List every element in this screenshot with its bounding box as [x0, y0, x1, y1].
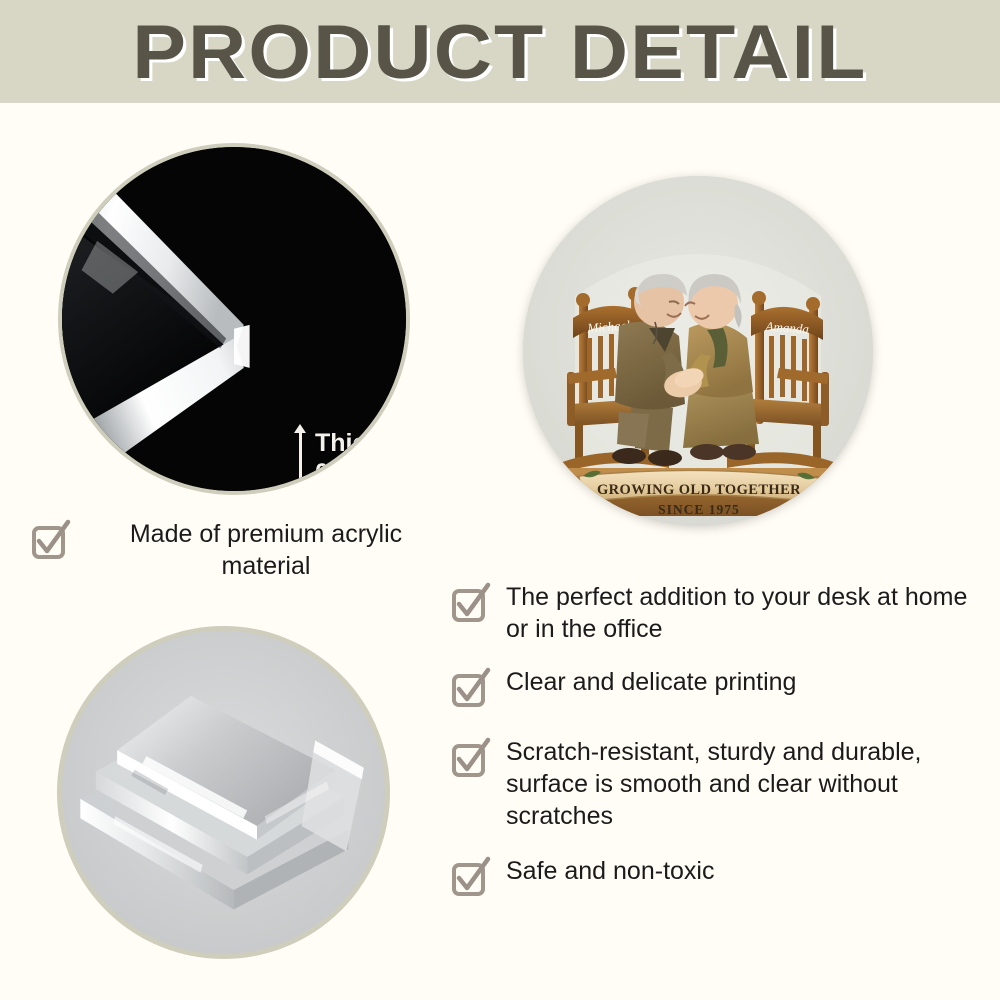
feature-item-safe: Safe and non-toxic — [450, 855, 990, 897]
checkbox-checked-icon — [450, 857, 490, 897]
plaque-banner-text: GROWING OLD TOGETHER — [597, 482, 801, 498]
thickness-photo-circle: Thickness 0.55 in — [58, 143, 410, 495]
feature-item-printing: Clear and delicate printing — [450, 666, 990, 708]
plaque-banner-subtext: SINCE 1975 — [658, 502, 740, 517]
chair-name-right: Amanda — [764, 318, 810, 336]
thickness-line-2: 0.55 in — [315, 458, 410, 488]
feature-item-scratch-resistant: Scratch-resistant, sturdy and durable, s… — [450, 736, 990, 832]
feature-label: Made of premium acrylic material — [86, 518, 446, 582]
thickness-line-1: Thickness — [315, 428, 410, 458]
feature-item-left: Made of premium acrylic material — [30, 518, 450, 582]
couple-plaque-illustration: Michael — [523, 176, 873, 526]
thickness-label: Thickness 0.55 in — [315, 428, 410, 488]
acrylic-sheets-illustration — [57, 626, 390, 959]
acrylic-sheets-photo-circle — [57, 626, 390, 959]
feature-label: Safe and non-toxic — [506, 855, 714, 887]
feature-label: The perfect addition to your desk at hom… — [506, 581, 990, 645]
double-arrow-vertical-icon — [294, 424, 306, 492]
checkbox-checked-icon — [450, 738, 490, 778]
product-preview-circle: Michael — [523, 176, 873, 526]
checkbox-checked-icon — [30, 520, 70, 560]
checkbox-checked-icon — [450, 583, 490, 623]
feature-item-desk: The perfect addition to your desk at hom… — [450, 581, 990, 645]
thickness-annotation: Thickness 0.55 in — [294, 424, 410, 492]
header-band: PRODUCT DETAIL — [0, 0, 1000, 103]
checkbox-checked-icon — [450, 668, 490, 708]
product-detail-page: PRODUCT DETAIL — [0, 0, 1000, 1000]
feature-label: Scratch-resistant, sturdy and durable, s… — [506, 736, 990, 832]
feature-label: Clear and delicate printing — [506, 666, 796, 698]
page-title: PRODUCT DETAIL — [132, 13, 867, 93]
